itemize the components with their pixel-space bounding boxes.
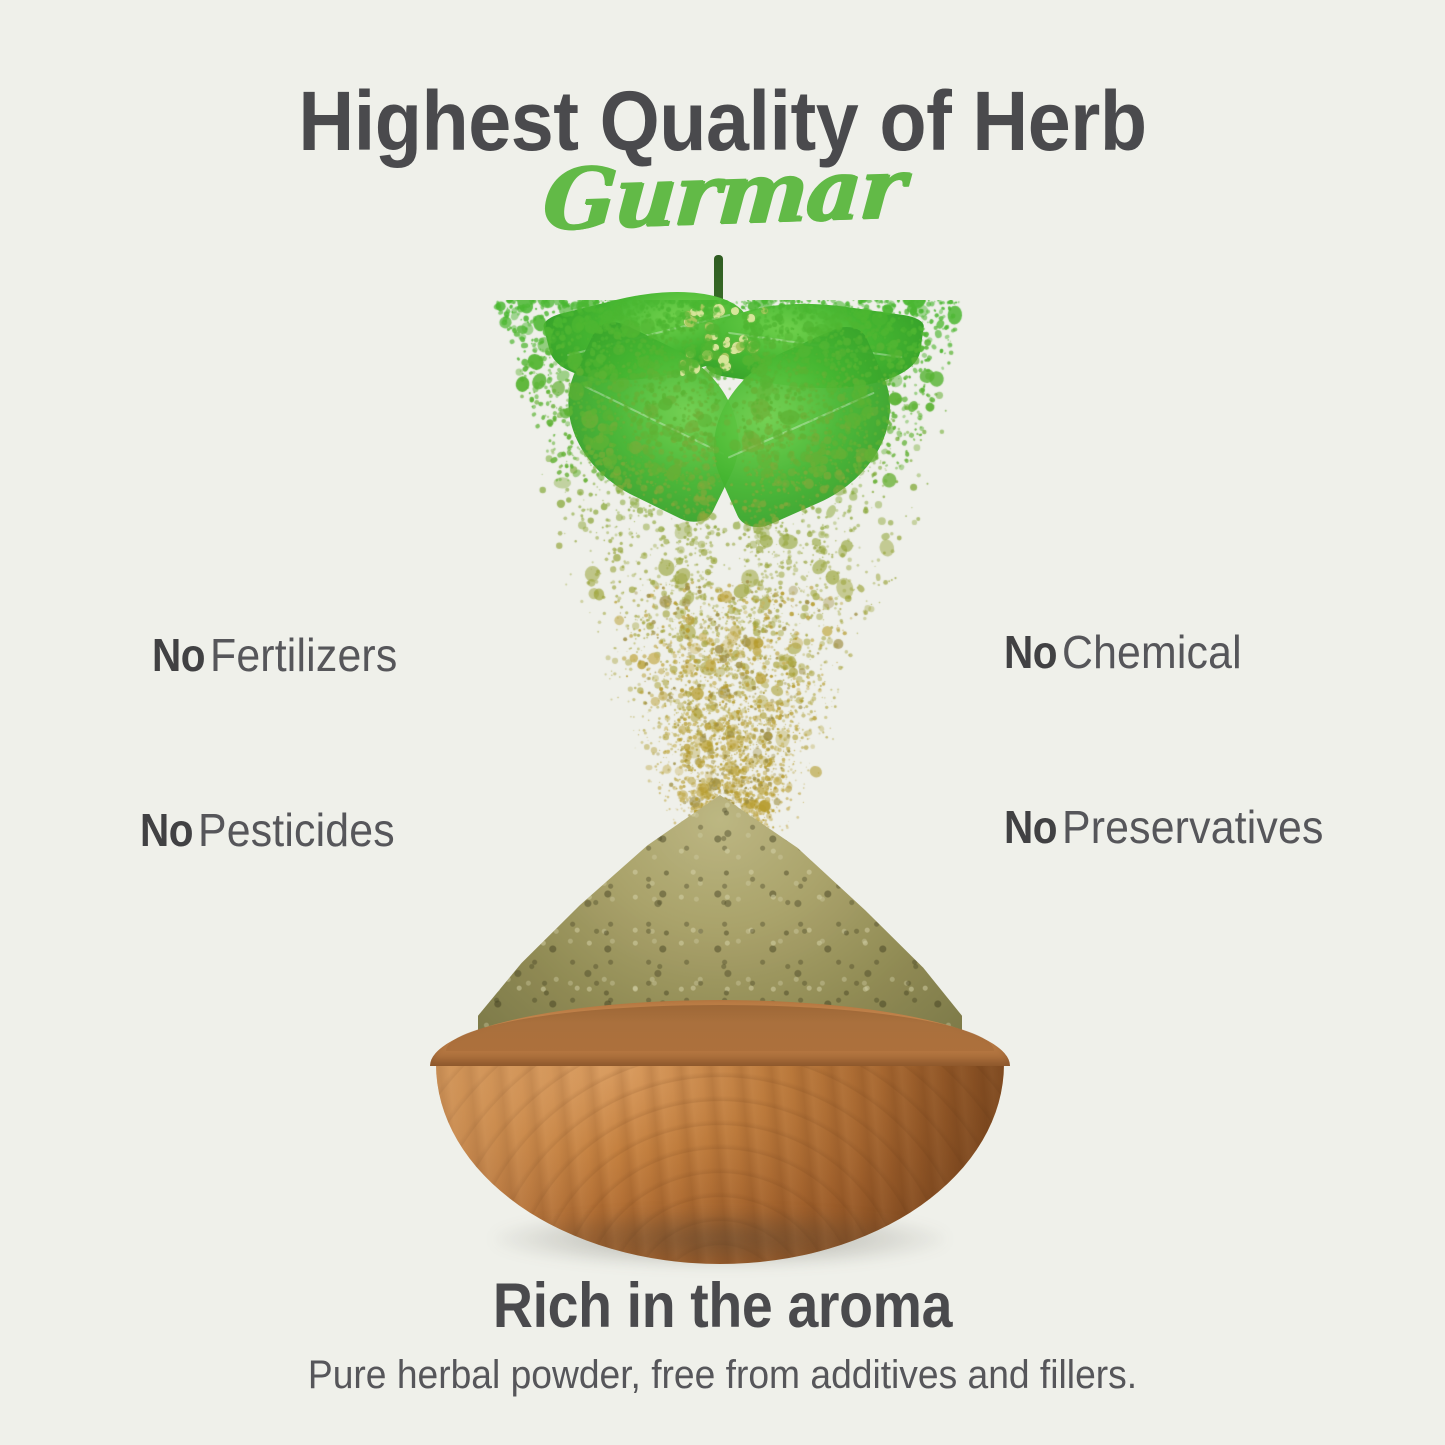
powder-dispersion-icon — [480, 300, 980, 840]
flower-bud — [747, 341, 759, 353]
flower-bud — [720, 362, 727, 369]
product-infographic-poster: Highest Quality of Herb Gurmar No Fertil… — [0, 0, 1445, 1445]
feature-prefix: No — [1004, 625, 1057, 679]
bowl-body — [436, 1026, 1004, 1264]
feature-prefix: No — [1004, 800, 1057, 854]
footer-subtext: Pure herbal powder, free from additives … — [51, 1352, 1395, 1398]
flower-bud — [702, 350, 713, 361]
flower-bud — [697, 310, 704, 317]
feature-label: Fertilizers — [210, 628, 397, 682]
feature-no-chemical: No Chemical — [1004, 625, 1256, 679]
bowl-rim-inner — [446, 1005, 994, 1051]
flower-bud — [680, 360, 686, 366]
flower-bud — [747, 314, 756, 323]
flower-bud — [725, 337, 730, 342]
header: Highest Quality of Herb Gurmar — [0, 78, 1445, 242]
flower-bud — [713, 311, 720, 318]
footer: Rich in the aroma Pure herbal powder, fr… — [0, 1272, 1445, 1398]
feature-label: Preservatives — [1062, 800, 1324, 854]
flower-bud — [690, 308, 698, 316]
flower-bud — [686, 351, 694, 359]
bowl-drop-shadow-icon — [494, 1210, 946, 1268]
feature-no-fertilizers: No Fertilizers — [152, 628, 412, 682]
footer-headline: Rich in the aroma — [87, 1272, 1359, 1340]
flower-bud — [718, 355, 728, 365]
bowl-shading — [436, 1026, 1004, 1264]
plant-stem-icon — [714, 255, 723, 350]
flower-bud — [732, 342, 743, 353]
flower-bud — [712, 344, 719, 351]
feature-label: Pesticides — [198, 803, 395, 857]
flower-bud — [723, 340, 731, 348]
leaf-vein — [567, 314, 730, 357]
flower-bud — [685, 317, 695, 327]
flower-bud — [748, 341, 756, 349]
powder-mound-icon — [478, 795, 962, 1035]
flower-bud — [736, 342, 745, 351]
feature-no-pesticides: No Pesticides — [140, 803, 410, 857]
flower-bud — [699, 304, 706, 311]
leaf-lower-right-icon — [684, 319, 919, 535]
wooden-bowl-icon — [430, 1000, 1010, 1265]
feature-label: Chemical — [1062, 625, 1242, 679]
flower-bud — [730, 347, 737, 354]
flower-bud — [721, 353, 729, 361]
flower-bud — [731, 307, 739, 315]
flower-bud — [680, 370, 686, 376]
flower-bud — [705, 334, 712, 341]
flower-bud — [761, 307, 768, 314]
bowl-rim — [430, 1000, 1010, 1066]
leaf-lower-left-icon — [537, 314, 769, 530]
gurmar-leaves-icon — [495, 255, 950, 555]
flower-bud — [739, 335, 748, 344]
flower-buds-icon — [675, 293, 767, 379]
flower-bud — [684, 316, 695, 327]
flower-bud — [713, 304, 724, 315]
feature-prefix: No — [140, 803, 193, 857]
leaf-upper-left-icon — [542, 270, 757, 402]
powder-texture — [478, 795, 962, 1035]
flower-bud — [685, 311, 690, 316]
leaf-vein — [728, 392, 875, 459]
wood-grain — [436, 1026, 1004, 1264]
flower-bud — [705, 322, 714, 331]
wood-grain-rings — [436, 1026, 1004, 1264]
flower-bud — [689, 362, 700, 373]
flower-bud — [715, 306, 725, 316]
feature-prefix: No — [152, 628, 205, 682]
leaf-upper-right-icon — [705, 289, 925, 403]
leaf-vein — [728, 332, 903, 359]
feature-no-preservatives: No Preservatives — [1004, 800, 1344, 854]
flower-bud — [722, 362, 731, 371]
flower-bud — [690, 318, 697, 325]
leaf-vein — [584, 385, 725, 455]
bowl-with-powder — [430, 795, 1010, 1265]
flower-bud — [710, 333, 717, 340]
